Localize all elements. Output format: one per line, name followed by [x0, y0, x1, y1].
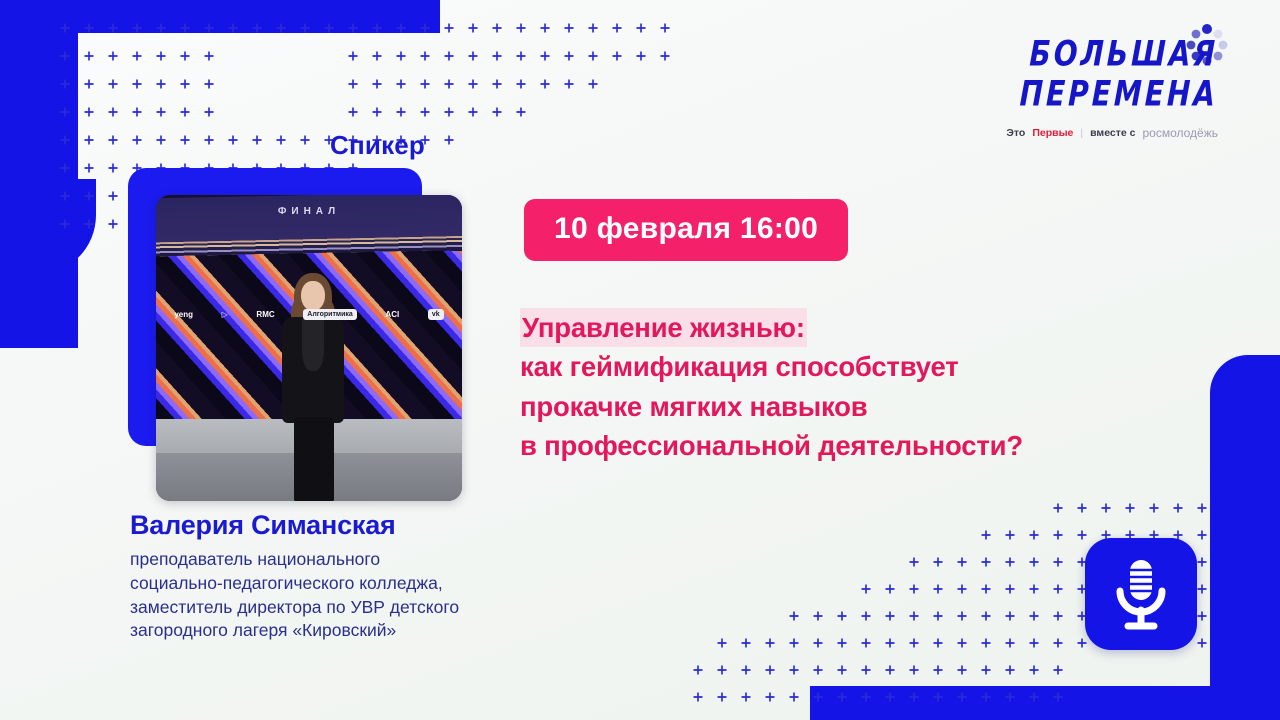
- speaker-photo-stack: yeng ▷ RMC Алгоритмика ACI vk ФИНАЛ: [128, 168, 468, 498]
- presentation-slide: Спикер yeng ▷ RMC Алгоритмика ACI vk: [0, 0, 1280, 720]
- sponsor-logo-3: Алгоритмика: [303, 309, 357, 320]
- speaker-bio-line: преподаватель национального: [130, 548, 560, 572]
- speaker-bio-line: заместитель директора по УВР детского: [130, 596, 560, 620]
- microphone-icon: [1110, 558, 1172, 630]
- speaker-name: Валерия Симанская: [130, 510, 396, 541]
- event-title-line: как геймификация способствует: [520, 347, 1220, 386]
- brand-name-line-2: ПЕРЕМЕНА: [998, 77, 1219, 112]
- photo-person-trousers: [294, 417, 334, 501]
- decor-frame-bottom-band: [810, 686, 1280, 720]
- event-title-line: прокачке мягких навыков: [520, 387, 1220, 426]
- tagline-prefix: Это: [1006, 127, 1025, 139]
- photo-person-shirt: [302, 319, 324, 371]
- tagline-partner: росмолодёжь: [1142, 126, 1218, 140]
- sponsor-logo-0: yeng: [174, 310, 193, 319]
- event-title-line: в профессиональной деятельности?: [520, 426, 1220, 465]
- decor-frame-right-band: [1210, 355, 1280, 720]
- speaker-bio-line: загородного лагеря «Кировский»: [130, 619, 560, 643]
- brand-name-line-1: БОЛЬШАЯ: [998, 37, 1219, 72]
- decor-frame-top-left-vertical: [0, 0, 78, 348]
- photo-header-text: ФИНАЛ: [156, 206, 462, 217]
- event-title-line-highlight: Управление жизнью:: [520, 308, 807, 347]
- tagline-with: вместе с: [1090, 127, 1135, 139]
- sponsor-logo-2: RMC: [256, 310, 274, 319]
- sponsor-logo-5: vk: [428, 309, 444, 320]
- brand-tagline: Это Первые | вместе с росмолодёжь: [998, 126, 1218, 140]
- microphone-badge: [1085, 538, 1197, 650]
- photo-sponsor-logos: yeng ▷ RMC Алгоритмика ACI vk: [156, 303, 462, 325]
- brand-logo: БОЛЬШАЯ ПЕРЕМЕНА Это Первые | вместе с р…: [998, 40, 1218, 140]
- speaker-label: Спикер: [330, 130, 425, 161]
- sponsor-logo-1: ▷: [222, 310, 228, 319]
- decor-frame-top-left-horizontal: [0, 0, 440, 33]
- event-title: Управление жизнью: как геймификация спос…: [520, 308, 1220, 465]
- event-date-badge: 10 февраля 16:00: [524, 199, 848, 261]
- tagline-brand: Первые: [1032, 127, 1073, 139]
- tagline-separator: |: [1080, 127, 1083, 139]
- sponsor-logo-4: ACI: [385, 310, 399, 319]
- speaker-bio: преподаватель национального социально-пе…: [130, 548, 560, 643]
- speaker-photo: yeng ▷ RMC Алгоритмика ACI vk ФИНАЛ: [156, 195, 462, 501]
- speaker-bio-line: социально-педагогического колледжа,: [130, 572, 560, 596]
